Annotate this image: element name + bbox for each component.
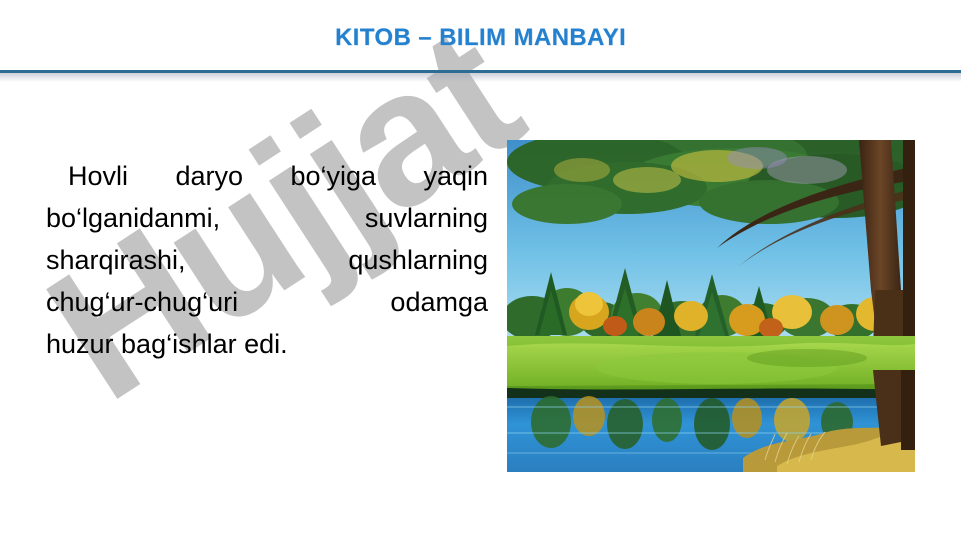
body-line-2: bo‘lganidanmi, suvlarning [46,197,488,239]
title-container: KITOB – BILIM MANBAYI [0,24,961,52]
landscape-photo-graphic [507,140,915,472]
landscape-photo [507,140,915,472]
title-divider-shadow [0,73,961,82]
body-line-5: huzur bag‘ishlar edi. [46,323,488,365]
body-line-3: sharqirashi, qushlarning [46,239,488,281]
body-paragraph: Hovli daryo bo‘yiga yaqin bo‘lganidanmi,… [46,155,488,365]
page-title: KITOB – BILIM MANBAYI [335,24,626,52]
body-line-4: chug‘ur-chug‘uri odamga [46,281,488,323]
title-divider-line [0,70,961,73]
body-line-1: Hovli daryo bo‘yiga yaqin [46,155,488,197]
slide-canvas: Hujjat 4 KITOB – BILIM MANBAYI Hovli dar… [0,0,961,540]
